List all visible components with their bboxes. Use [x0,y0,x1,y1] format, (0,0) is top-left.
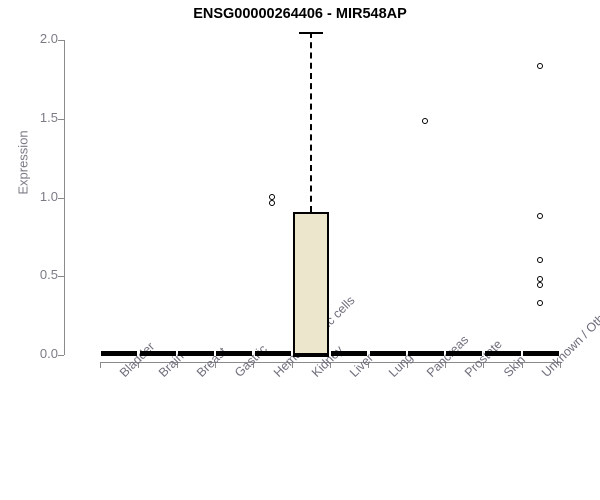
chart-title: ENSG00000264406 - MIR548AP [0,6,600,22]
y-axis-line [64,40,65,355]
boxplot-figure: ENSG00000264406 - MIR548AP Expression 0.… [0,0,600,500]
y-tick-label: 0.0 [16,347,58,360]
box-liver [331,351,367,356]
y-tick-label: 0.5 [16,268,58,281]
outlier-point-hematopoietic-cells-0 [269,194,275,200]
box-breast [178,351,214,356]
x-tick-label-brain: Brain [156,370,166,380]
y-tick-label: 1.5 [16,111,58,124]
whisker-cap-kidney [299,32,323,34]
box-pancreas [408,351,444,356]
y-tick-mark [58,40,64,41]
y-tick-mark [58,119,64,120]
box-gastric [216,351,252,356]
outlier-point-unknown-other-1 [537,213,543,219]
x-tick-label-pancreas: Pancreas [424,370,434,380]
box-unknown-other [523,351,559,356]
outlier-point-unknown-other-4 [537,282,543,288]
outlier-point-unknown-other-0 [537,63,543,69]
outlier-point-unknown-other-3 [537,276,543,282]
median-line-kidney [293,353,329,357]
box-lung [370,351,406,356]
y-tick-mark [58,355,64,356]
x-tick-mark [100,362,101,368]
x-tick-label-lung: Lung [386,370,396,380]
outlier-point-hematopoietic-cells-1 [269,200,275,206]
x-tick-label-skin: Skin [501,370,511,380]
outlier-point-pancreas-0 [422,118,428,124]
x-tick-label-breast: Breast [194,370,204,380]
box-kidney [293,212,329,355]
y-tick-label: 1.0 [16,190,58,203]
x-tick-label-bladder: Bladder [117,370,127,380]
box-hematopoietic-cells [255,351,291,356]
x-tick-label-unknown-other: Unknown / Other [539,370,549,380]
box-brain [140,351,176,356]
y-tick-mark [58,198,64,199]
box-prostate [446,351,482,356]
x-tick-label-kidney: Kidney [309,370,319,380]
x-tick-label-liver: Liver [347,370,357,380]
x-tick-label-gastric: Gastric [232,370,242,380]
x-tick-label-prostate: Prostate [462,370,472,380]
whisker-line-kidney [310,32,312,212]
y-tick-label: 2.0 [16,32,58,45]
outlier-point-unknown-other-5 [537,300,543,306]
x-tick-label-hematopoietic-cells: Hematopoietic cells [271,370,281,380]
outlier-point-unknown-other-2 [537,257,543,263]
box-skin [485,351,521,356]
box-bladder [101,351,137,356]
y-tick-mark [58,276,64,277]
